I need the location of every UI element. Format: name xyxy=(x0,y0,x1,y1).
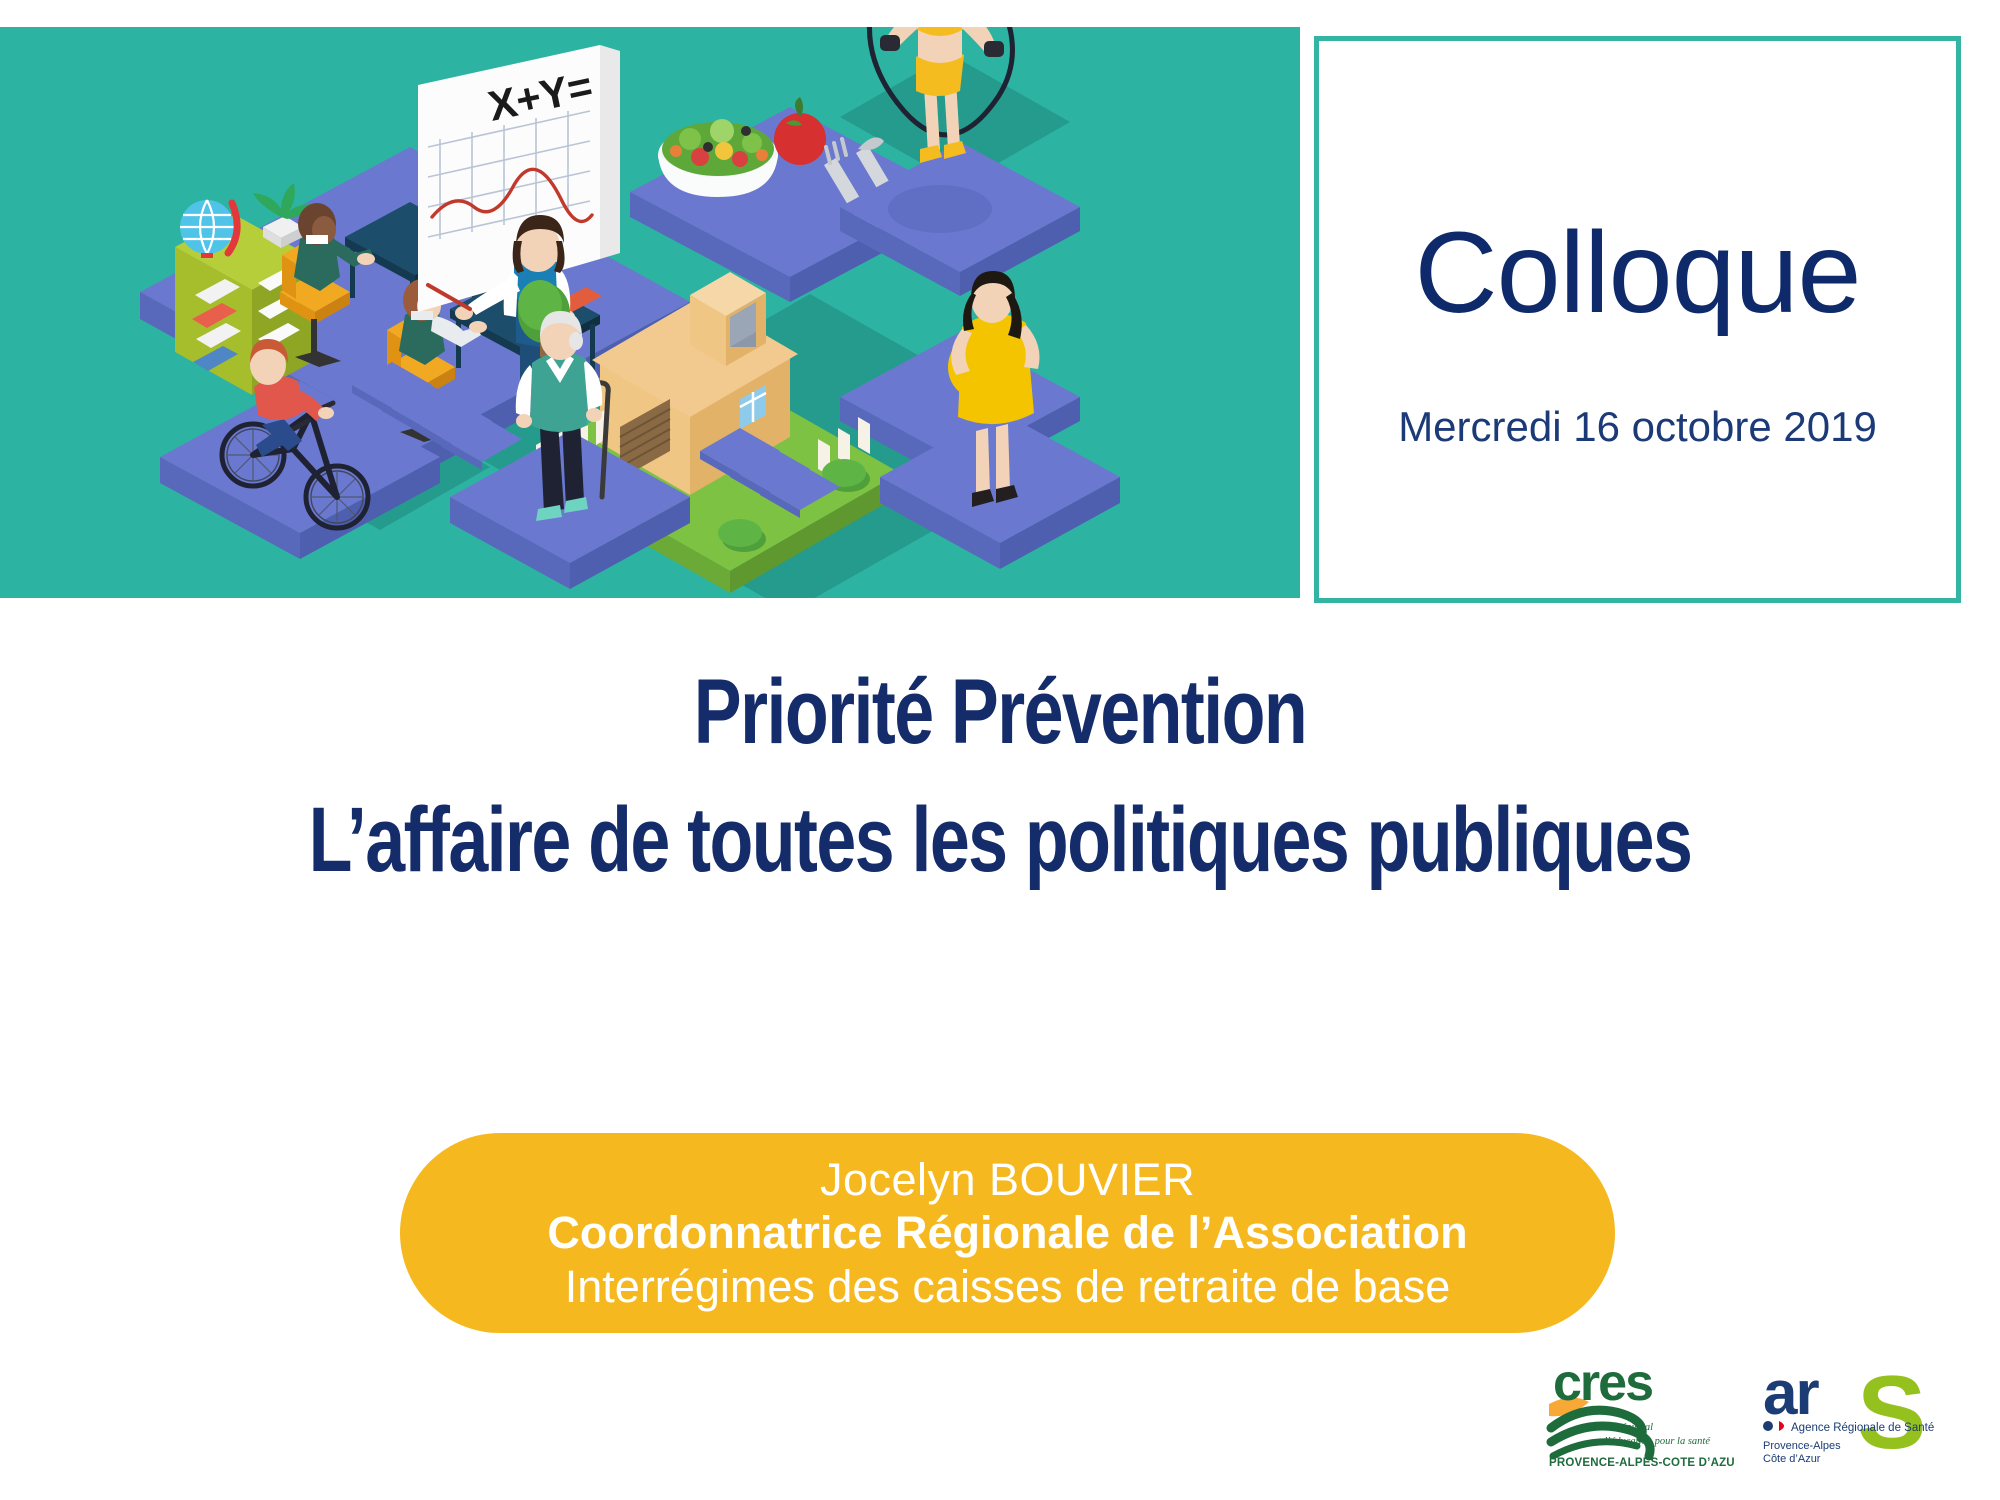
ars-bullet-blue xyxy=(1763,1421,1773,1431)
page-title-line-2: L’affaire de toutes les politiques publi… xyxy=(220,788,1780,894)
ars-tagline: Agence Régionale de Santé xyxy=(1791,1422,1934,1434)
cres-wordmark: cres xyxy=(1553,1354,1652,1412)
cres-tagline-line2: d’éducation pour la santé xyxy=(1602,1436,1712,1447)
colloque-title: Colloque xyxy=(1319,216,1956,331)
cres-logo-svg: cres Comité régional d’éducation pour la… xyxy=(1545,1352,1735,1470)
ars-region-line2: Côte d’Azur xyxy=(1763,1453,1821,1465)
ars-wordmark-blue: ar xyxy=(1763,1359,1819,1428)
cres-logo: cres Comité régional d’éducation pour la… xyxy=(1545,1352,1735,1470)
speaker-role: Coordonnatrice Régionale de l’Associatio… xyxy=(547,1206,1467,1259)
speaker-organisation: Interrégimes des caisses de retraite de … xyxy=(565,1260,1450,1313)
cres-region: PROVENCE-ALPES-COTE D’AZUR xyxy=(1549,1457,1735,1469)
colloque-box: Colloque Mercredi 16 octobre 2019 xyxy=(1314,36,1961,603)
page-title: Priorité Prévention L’affaire de toutes … xyxy=(0,660,2000,894)
ars-wordmark-green: S xyxy=(1857,1355,1926,1470)
speaker-badge: Jocelyn BOUVIER Coordonnatrice Régionale… xyxy=(400,1133,1615,1333)
ars-region-line1: Provence-Alpes xyxy=(1763,1440,1841,1452)
hero-illustration-svg: X+Y= xyxy=(0,27,1300,598)
logo-row: cres Comité régional d’éducation pour la… xyxy=(1545,1345,1985,1470)
speaker-name: Jocelyn BOUVIER xyxy=(820,1153,1195,1206)
cres-tagline-line1: Comité régional xyxy=(1584,1422,1653,1433)
page-title-line-1: Priorité Prévention xyxy=(220,660,1780,766)
hero-illustration: X+Y= xyxy=(0,27,1300,598)
ars-logo: S ar Agence Régionale de Santé Provence-… xyxy=(1761,1352,1976,1470)
ars-logo-svg: S ar Agence Régionale de Santé Provence-… xyxy=(1761,1352,1976,1470)
colloque-date: Mercredi 16 octobre 2019 xyxy=(1319,403,1956,451)
